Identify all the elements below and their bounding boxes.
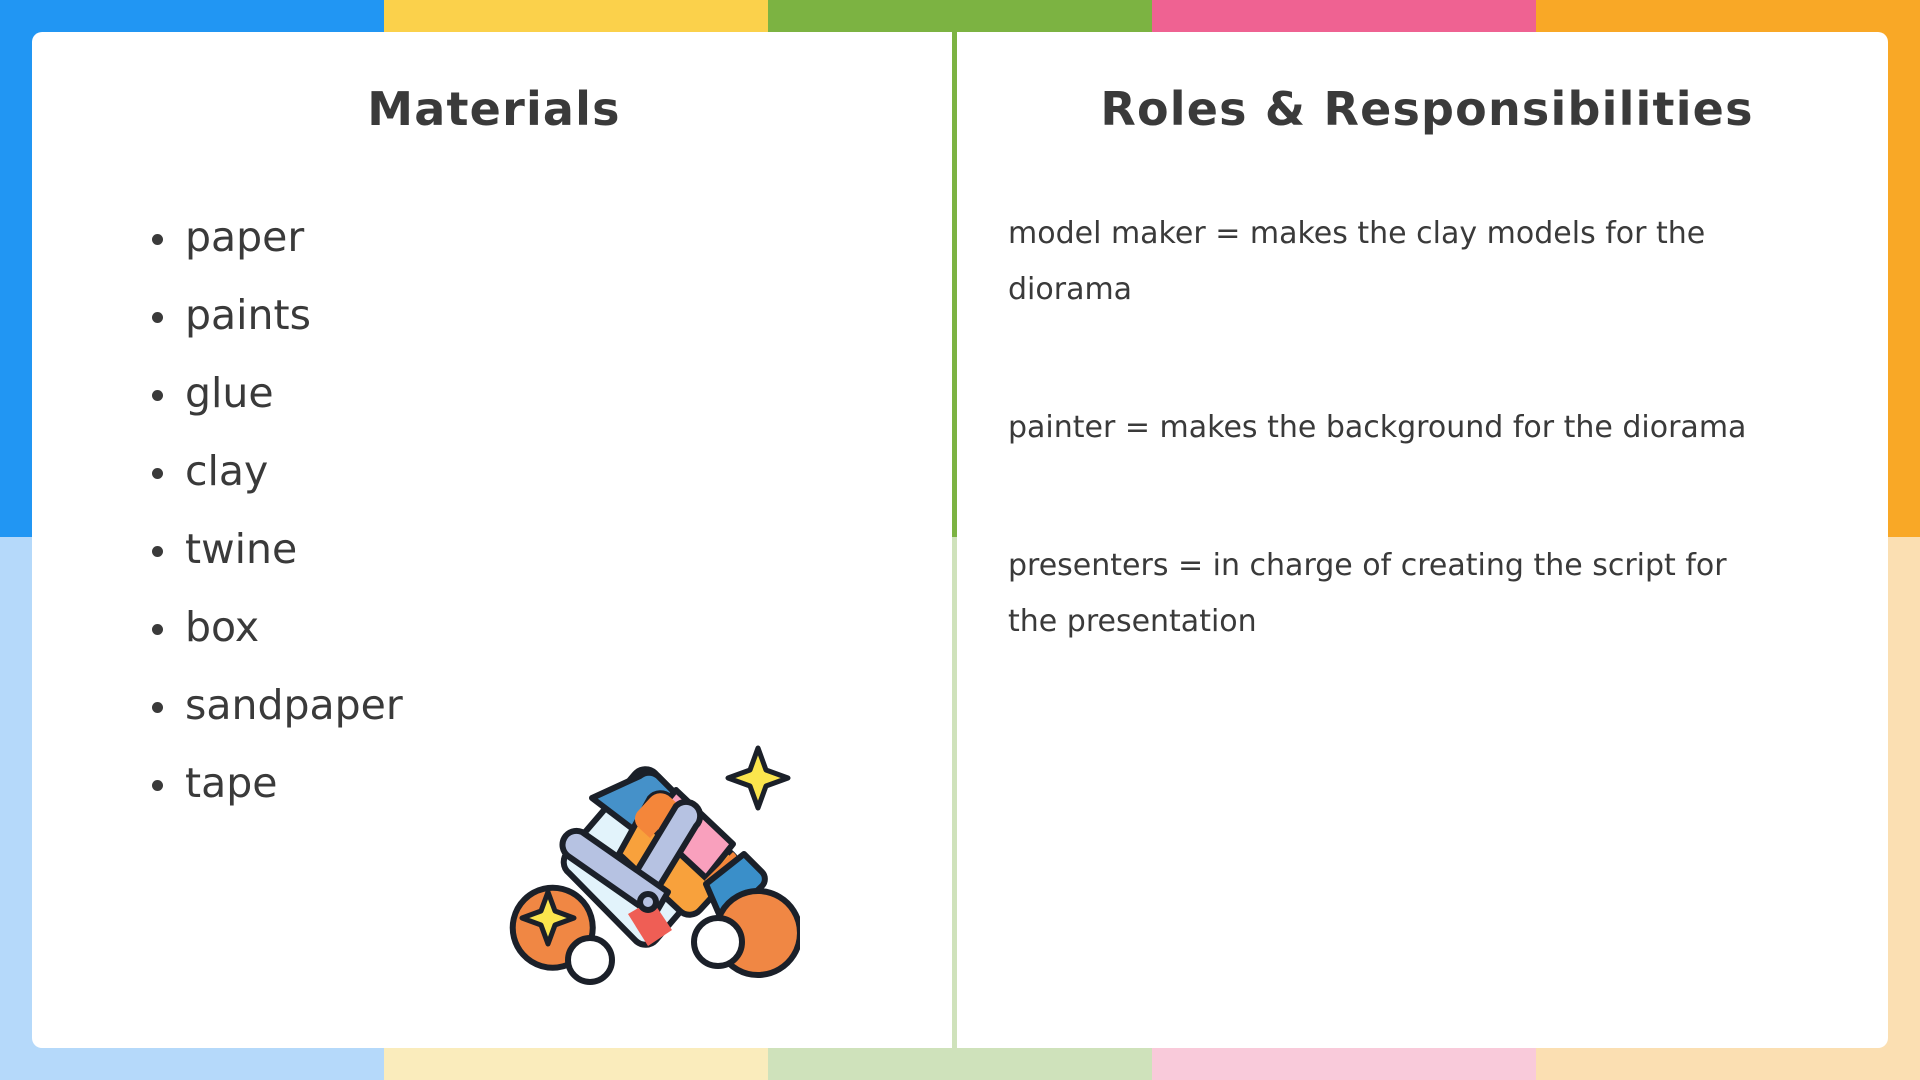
list-item: box [152, 588, 960, 666]
panel-divider [952, 32, 957, 1048]
materials-title: Materials [32, 82, 960, 136]
slide-canvas: Materials paper paints glue clay twine b… [0, 0, 1920, 1080]
list-item: twine [152, 510, 960, 588]
materials-panel: Materials paper paints glue clay twine b… [32, 32, 960, 1048]
scissors-glue-paper-icon [500, 732, 800, 1022]
list-item: clay [152, 432, 960, 510]
roles-title: Roles & Responsibilities [966, 82, 1888, 136]
roles-panel: Roles & Responsibilities model maker = m… [960, 32, 1888, 1048]
divider-top-segment [952, 32, 957, 537]
role-paragraph-painter: painter = makes the background for the d… [1008, 400, 1748, 456]
list-item: paper [152, 198, 960, 276]
role-paragraph-presenters: presenters = in charge of creating the s… [1008, 538, 1748, 650]
list-item: paints [152, 276, 960, 354]
role-paragraph-model-maker: model maker = makes the clay models for … [1008, 206, 1748, 318]
roles-text-block: model maker = makes the clay models for … [1008, 206, 1748, 650]
materials-list: paper paints glue clay twine box sandpap… [152, 198, 960, 822]
divider-bottom-segment [952, 537, 957, 1048]
content-card: Materials paper paints glue clay twine b… [32, 32, 1888, 1048]
list-item: glue [152, 354, 960, 432]
